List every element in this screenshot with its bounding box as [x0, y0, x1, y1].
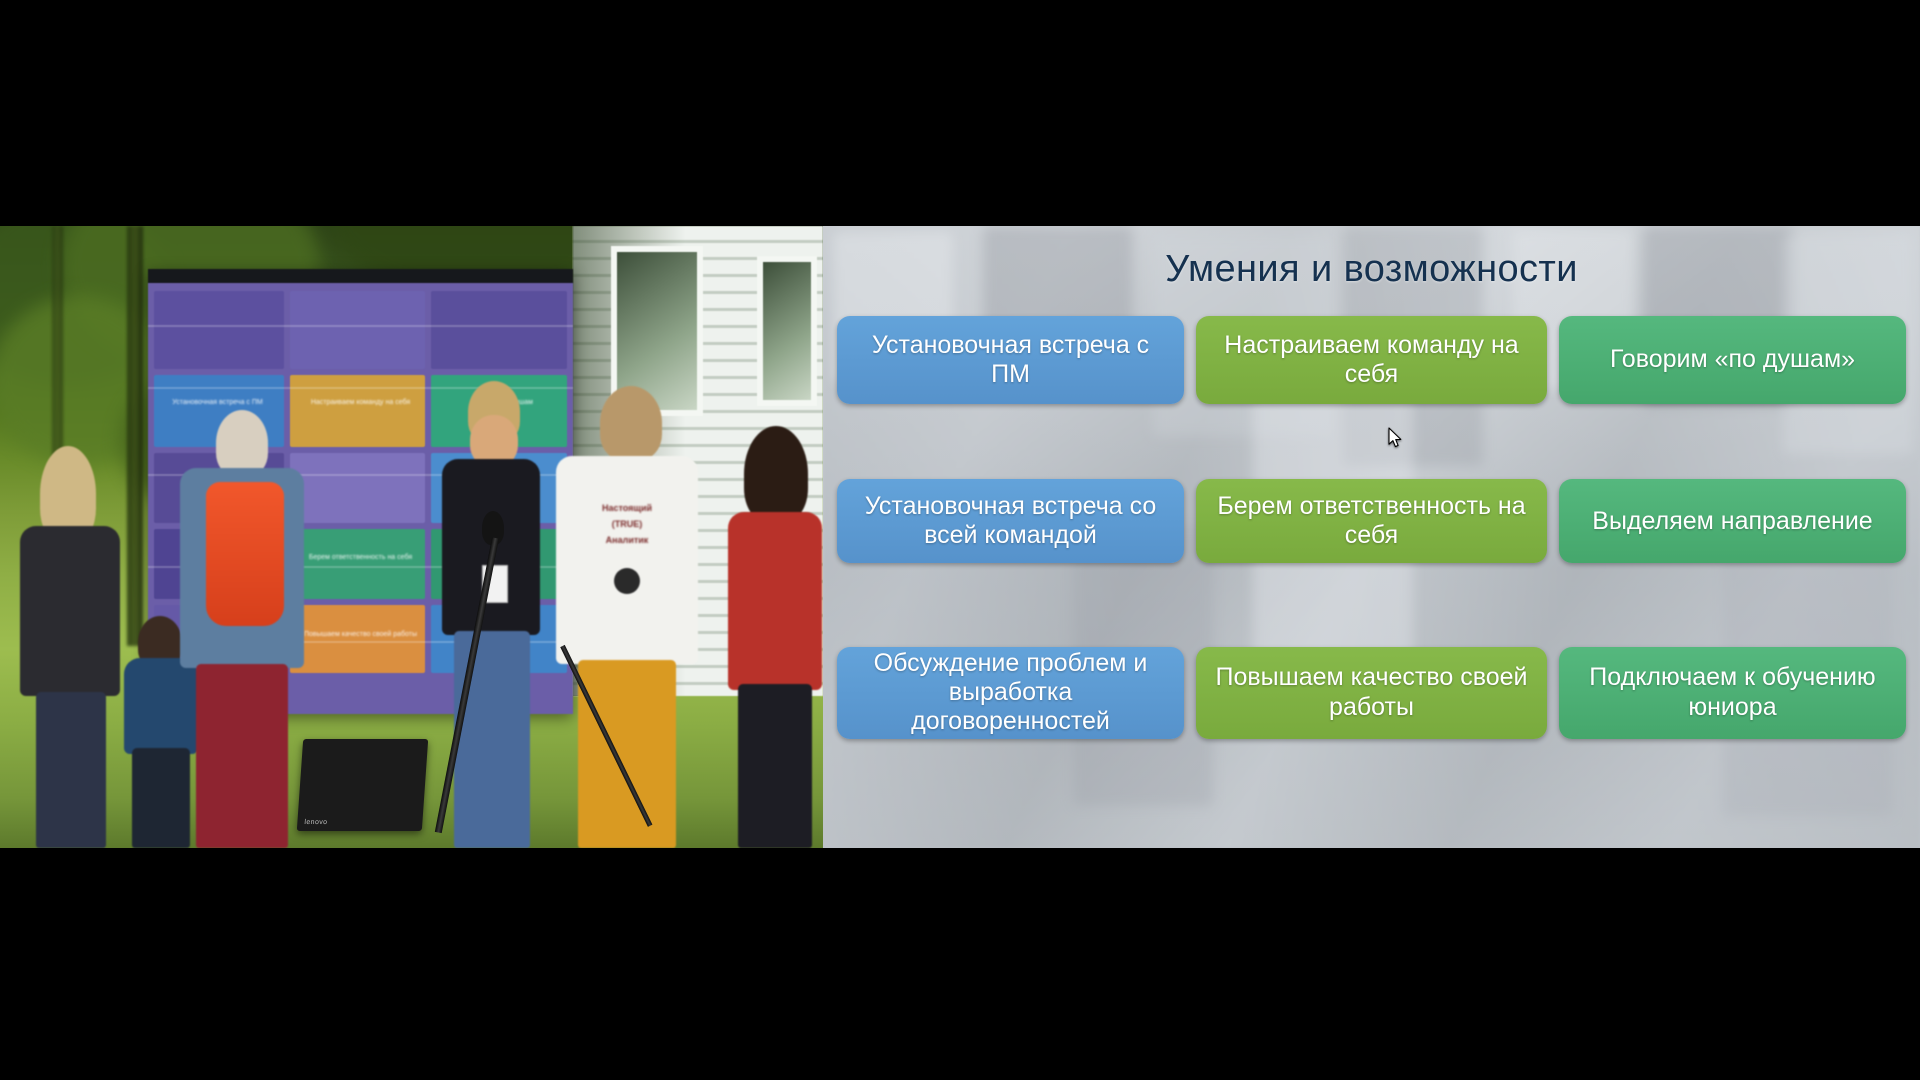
- tree-trunk: [127, 226, 143, 646]
- card-installation-meeting-whole-team[interactable]: Установочная встреча со всей командой: [837, 479, 1184, 563]
- card-heart-to-heart-talk[interactable]: Говорим «по душам»: [1559, 316, 1906, 404]
- poster-chip: [154, 291, 284, 369]
- tshirt-text-line: (TRUE): [556, 518, 698, 530]
- video-stage: Установочная встреча с ПМ Настраиваем ко…: [0, 226, 1920, 848]
- camera-feed-panel[interactable]: Установочная встреча с ПМ Настраиваем ко…: [0, 226, 823, 848]
- laptop-brand-label: lenovo: [304, 819, 328, 826]
- hair: [744, 426, 808, 522]
- card-installation-meeting-pm[interactable]: Установочная встреча с ПМ: [837, 316, 1184, 404]
- tshirt-text-line: Аналитик: [556, 534, 698, 546]
- torso: Настоящий (TRUE) Аналитик: [556, 456, 698, 664]
- torso: [728, 512, 822, 690]
- card-take-responsibility[interactable]: Берем ответственность на себя: [1196, 479, 1547, 563]
- card-tune-team-to-self[interactable]: Настраиваем команду на себя: [1196, 316, 1547, 404]
- poster-board-frame: [148, 269, 573, 283]
- hair: [216, 410, 268, 476]
- video-scanline: [148, 325, 573, 327]
- legs: [36, 692, 106, 848]
- card-discuss-problems-agreements[interactable]: Обсуждение проблем и выработка договорен…: [837, 647, 1184, 739]
- skills-card-grid: Установочная встреча с ПМ Настраиваем ко…: [837, 312, 1906, 782]
- hair: [600, 386, 662, 460]
- poster-chip: [290, 453, 425, 523]
- laptop: lenovo: [297, 739, 428, 831]
- legs: [196, 664, 288, 848]
- tshirt-logo: [614, 568, 640, 594]
- poster-chip: [290, 375, 425, 447]
- tshirt-text-line: Настоящий: [556, 502, 698, 514]
- poster-chip: [431, 291, 567, 369]
- house-window: [757, 256, 817, 406]
- participant-silhouette: [726, 426, 823, 848]
- backpack: [206, 482, 284, 626]
- poster-chip: [290, 529, 425, 599]
- poster-chip: [290, 291, 425, 369]
- legs: [454, 631, 530, 848]
- torso: [20, 526, 120, 696]
- card-onboard-junior[interactable]: Подключаем к обучению юниора: [1559, 647, 1906, 739]
- shared-slide-panel[interactable]: Умения и возможности Установочная встреч…: [823, 226, 1920, 848]
- legs: [578, 660, 676, 848]
- card-improve-work-quality[interactable]: Повышаем качество своей работы: [1196, 647, 1547, 739]
- participant-silhouette: [178, 406, 308, 848]
- slide-title: Умения и возможности: [823, 248, 1920, 291]
- screen-root: Установочная встреча с ПМ Настраиваем ко…: [0, 0, 1920, 1080]
- card-define-direction[interactable]: Выделяем направление: [1559, 479, 1906, 563]
- participant-silhouette: [14, 446, 124, 848]
- legs: [738, 684, 812, 848]
